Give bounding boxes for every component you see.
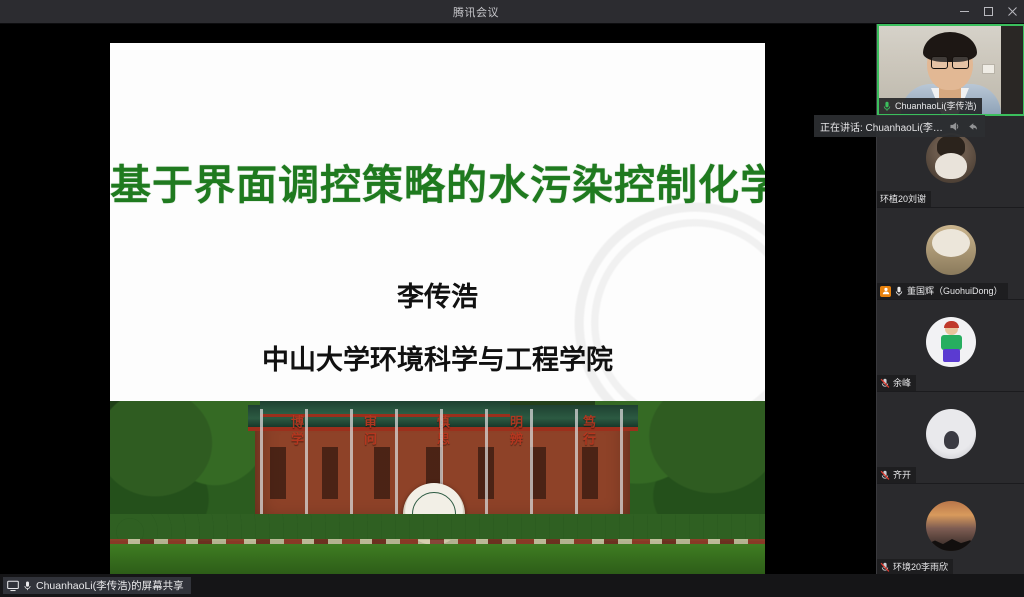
participant-tile-0[interactable]: ChuanhaoLi(李传浩)	[877, 24, 1024, 116]
screen-share-indicator[interactable]: ChuanhaoLi(李传浩)的屏幕共享	[3, 577, 191, 594]
participant-nameplate-3: 余峰	[877, 375, 916, 391]
close-icon	[1007, 6, 1018, 17]
mic-muted-icon	[880, 378, 890, 389]
active-speaker-toast: 正在讲话: ChuanhaoLi(李…	[814, 115, 985, 137]
participant-tile-3[interactable]: 余峰	[877, 300, 1024, 392]
participant-rail[interactable]: ChuanhaoLi(李传浩) 环植20刘谢	[876, 24, 1024, 574]
photo-hedge	[110, 514, 765, 540]
participant-name-0: ChuanhaoLi(李传浩)	[895, 100, 977, 112]
host-badge	[880, 286, 891, 297]
tencent-meeting-window: 腾讯会议 基于界面调控策略的水污染控制化	[0, 0, 1024, 597]
slide-text-area: 基于界面调控策略的水污染控制化学 李传浩 中山大学环境科学与工程学院 —2021…	[110, 43, 765, 405]
mic-on-icon	[882, 101, 892, 112]
window-title-bar: 腾讯会议	[0, 0, 1024, 24]
minimize-button[interactable]	[952, 0, 976, 24]
avatar-figure-bottom	[943, 349, 960, 362]
window-title: 腾讯会议	[0, 4, 952, 20]
presentation-slide: 基于界面调控策略的水污染控制化学 李传浩 中山大学环境科学与工程学院 —2021…	[110, 43, 765, 574]
participant-nameplate-0: ChuanhaoLi(李传浩)	[879, 98, 982, 114]
maximize-icon	[983, 6, 994, 17]
participant-tile-2[interactable]: 董国辉（GuohuiDong）	[877, 208, 1024, 300]
avatar-li	[926, 501, 976, 551]
avatar-figure-hair	[944, 321, 959, 328]
participant-nameplate-1: 环植20刘谢	[877, 191, 931, 207]
avatar-figure-top	[941, 335, 962, 350]
volume-icon[interactable]	[948, 120, 961, 133]
host-person-icon	[882, 287, 890, 295]
slide-affiliation-text: 中山大学环境科学与工程学院	[110, 338, 765, 377]
avatar-dong	[926, 225, 976, 275]
window-controls	[952, 0, 1024, 24]
participant-name-2: 董国辉（GuohuiDong）	[907, 285, 1003, 297]
participant-nameplate-4: 齐开	[877, 467, 916, 483]
campus-photo: 博学 审问 慎思 明辨 笃行	[110, 401, 765, 574]
participant-nameplate-5: 环境20李雨欣	[877, 559, 953, 575]
photo-lawn	[110, 544, 765, 574]
webcam-wall	[1001, 26, 1023, 114]
status-bar: ChuanhaoLi(李传浩)的屏幕共享	[0, 574, 1024, 597]
screen-share-icon	[7, 580, 19, 592]
slide-title: 基于界面调控策略的水污染控制化学	[110, 151, 765, 211]
close-button[interactable]	[1000, 0, 1024, 24]
shared-screen-stage[interactable]: 基于界面调控策略的水污染控制化学 李传浩 中山大学环境科学与工程学院 —2021…	[0, 24, 876, 574]
avatar-yu	[926, 317, 976, 367]
maximize-button[interactable]	[976, 0, 1000, 24]
webcam-wall-switch	[982, 64, 995, 74]
active-speaker-label: 正在讲话: ChuanhaoLi(李…	[820, 119, 943, 134]
participant-name-5: 环境20李雨欣	[893, 561, 948, 573]
participant-tile-4[interactable]: 齐开	[877, 392, 1024, 484]
webcam-glasses	[931, 56, 969, 67]
minimize-icon	[959, 6, 970, 17]
mic-on-icon	[894, 286, 904, 297]
screen-share-label: ChuanhaoLi(李传浩)的屏幕共享	[36, 578, 184, 593]
reply-icon[interactable]	[966, 120, 979, 133]
mic-icon	[23, 580, 32, 592]
participant-name-4: 齐开	[893, 469, 911, 481]
avatar-qi	[926, 409, 976, 459]
slide-author: 李传浩	[110, 275, 765, 314]
participant-name-1: 环植20刘谢	[880, 193, 926, 205]
avatar-liu	[926, 133, 976, 183]
mic-muted-icon	[880, 562, 890, 573]
participant-nameplate-2: 董国辉（GuohuiDong）	[877, 283, 1008, 299]
participant-tile-5[interactable]: 环境20李雨欣	[877, 484, 1024, 576]
participant-name-3: 余峰	[893, 377, 911, 389]
mic-muted-icon	[880, 470, 890, 481]
